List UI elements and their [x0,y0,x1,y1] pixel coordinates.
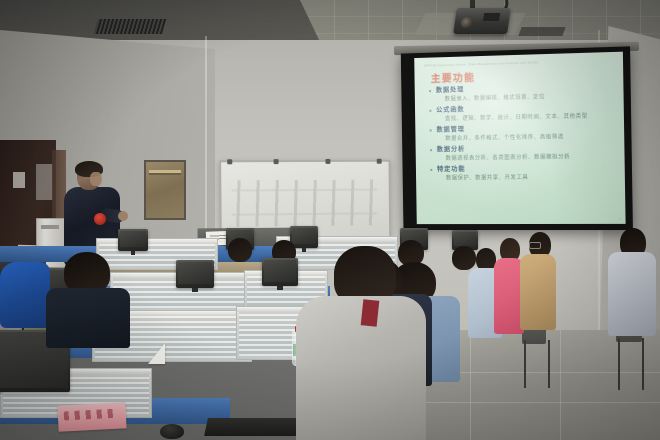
person-torso [46,288,130,348]
slide-section: 数据管理 数据合并、条件格式、个性化排序、高级筛选 [429,122,620,144]
whiteboard-clip [325,159,330,164]
person-torso [608,252,656,336]
projection-screen: OFFICE Application Series - Data Managem… [401,46,633,230]
wall-poster [144,160,186,220]
floor-tile-line [470,330,471,440]
monitor-screen [178,262,212,284]
floor-tile-line [560,330,561,440]
monitor-screen [264,260,296,282]
blue-bag [0,262,50,328]
lanyard [361,299,380,327]
slide-section: 数据处理 数据录入、数据编辑、格式设置、定位 [428,81,619,104]
projector-lens-icon [460,17,474,28]
slide-section: 特定功能 数据保护、数据共享、开发工具 [429,163,620,183]
person-head [228,238,252,262]
desk-label-handwriting [64,409,118,421]
monitor-stand [192,288,198,292]
ceiling-vent-secondary-icon [518,27,565,36]
slide-page-number: 1 [619,217,621,221]
whiteboard-clip [377,159,382,164]
presenter-face [90,172,102,186]
projector-housing [483,13,500,21]
presenter-hand [118,211,128,221]
monitor-screen [292,228,316,244]
monitor-stand [277,286,283,290]
whiteboard-clip [227,159,232,164]
monitor-screen [454,232,476,246]
eyeglasses-icon [529,242,541,249]
desktop-monitor [262,258,298,286]
slide-body: 数据处理 数据录入、数据编辑、格式设置、定位 公式函数 查找、逻辑、数学、统计、… [428,81,621,184]
person-head [452,246,476,270]
monitor-stand [302,248,306,252]
monitor-stand [131,251,136,255]
desk-label-pink [57,402,126,432]
slide-section: 公式函数 查找、逻辑、数学、统计、日期时间、文本、其他类型 [428,102,619,124]
slide-header-text: OFFICE Application Series - Data Managem… [424,58,617,68]
ceiling-vent-icon [94,19,166,34]
whiteboard-erased-marks [231,180,377,227]
desktop-monitor [118,229,148,251]
whiteboard-clip [274,159,279,164]
desktop-monitor [176,260,214,288]
slide-section: 数据分析 数据透视表分析、各类图表分析、数据模拟分析 [429,142,620,163]
presenter-shirt-logo [94,213,106,225]
slide-title: 主要功能 [431,69,476,85]
paper-sheet-on-cabinet [36,164,53,200]
paper-tent-card [148,343,165,364]
projection-screen-surface: OFFICE Application Series - Data Managem… [414,52,625,224]
wall-notice-paper [13,172,25,188]
projector [453,8,511,34]
slide-section-heading: 特定功能 [429,163,620,175]
monitor-screen [120,231,146,247]
keyboard [204,418,300,436]
person-torso [520,254,556,330]
mouse [160,424,184,439]
classroom-photo: OFFICE Application Series - Data Managem… [0,0,660,440]
